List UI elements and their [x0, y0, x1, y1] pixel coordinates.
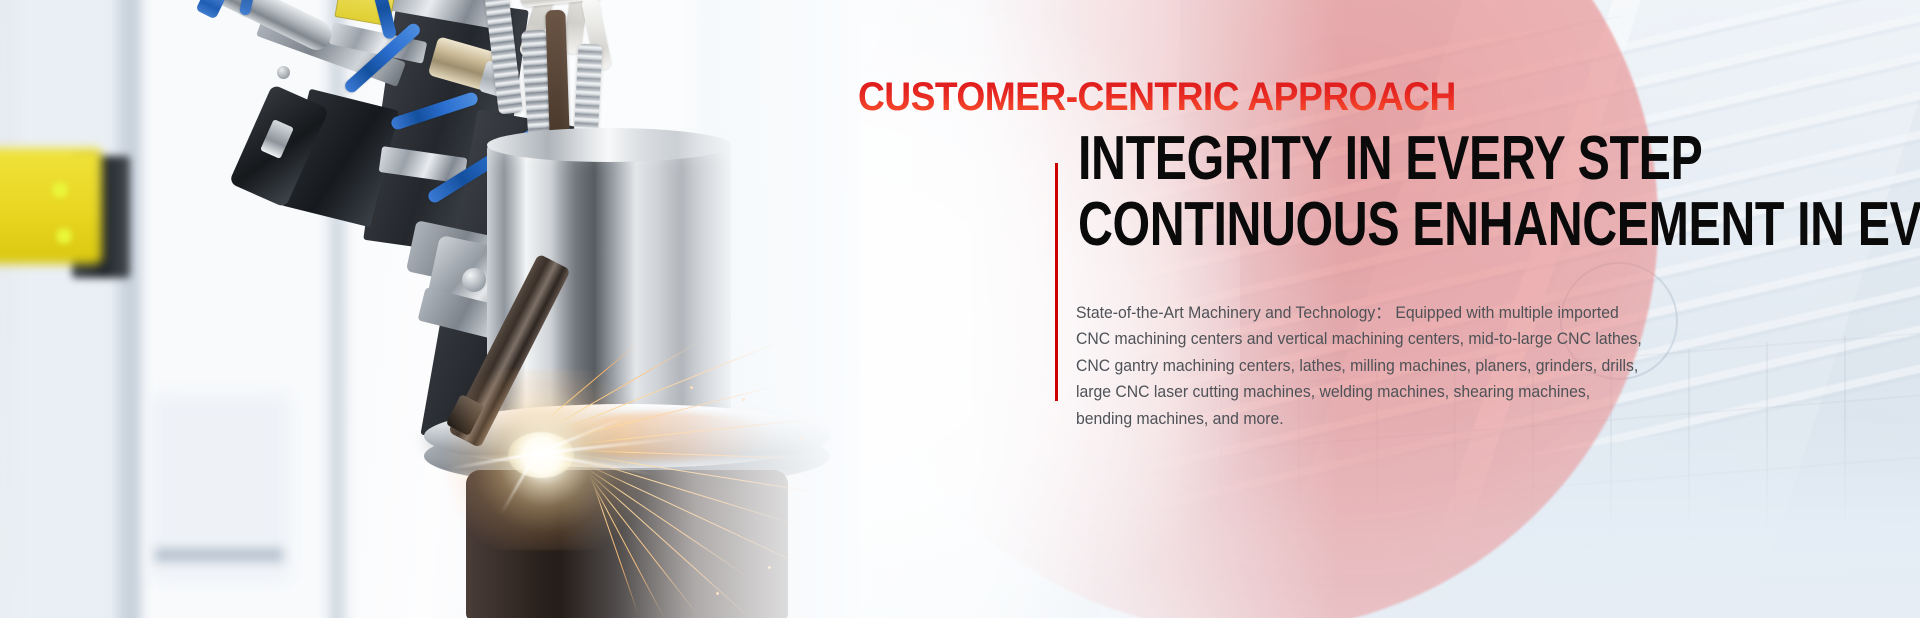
hero-banner: CUSTOMER-CENTRIC APPROACH INTEGRITY IN E…: [0, 0, 1920, 618]
red-accent-bar: [1055, 163, 1058, 401]
eyebrow-heading: CUSTOMER-CENTRIC APPROACH: [858, 74, 1456, 120]
headline-group: INTEGRITY IN EVERY STEP CONTINUOUS ENHAN…: [1078, 128, 1908, 256]
hero-content: CUSTOMER-CENTRIC APPROACH INTEGRITY IN E…: [0, 0, 1920, 618]
headline-line-1: INTEGRITY IN EVERY STEP: [1078, 128, 1725, 190]
headline-line-2: CONTINUOUS ENHANCEMENT IN EVERY PROCESS: [1078, 194, 1725, 256]
description-paragraph: State-of-the-Art Machinery and Technolog…: [1076, 300, 1649, 432]
